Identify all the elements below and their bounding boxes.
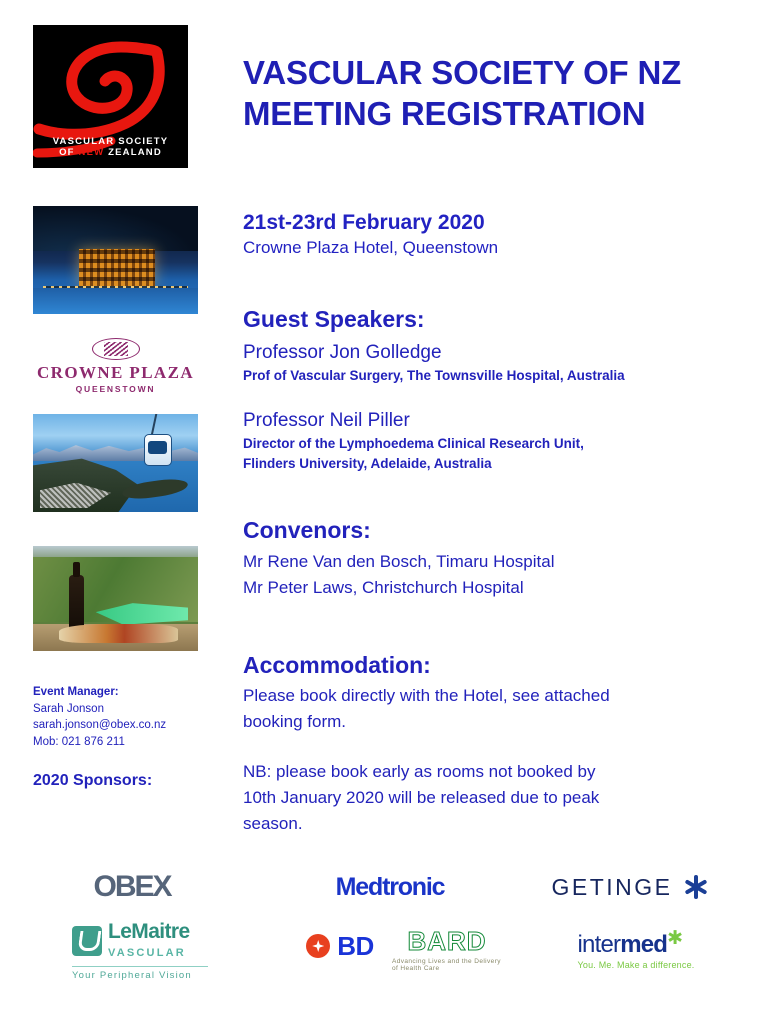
event-manager-heading: Event Manager:: [33, 684, 211, 701]
intermed-star-icon: ✱: [667, 928, 682, 949]
speaker-1-role: Prof of Vascular Surgery, The Townsville…: [243, 366, 625, 386]
lemaitre-name: LeMaitre: [108, 920, 190, 943]
sponsor-logo-bd: BD: [306, 931, 374, 962]
bd-name: BD: [337, 931, 374, 962]
intermed-tagline: You. Me. Make a difference.: [578, 960, 695, 970]
poster-page: VASCULAR SOCIETY OF NEW ZEALAND CROWNE P…: [0, 0, 770, 1024]
bd-starburst-icon: [306, 934, 330, 958]
intermed-name-bold: med: [620, 931, 667, 958]
crowne-plaza-crown-icon: [92, 338, 140, 360]
sponsor-logo-medtronic: Medtronic: [336, 873, 445, 902]
page-title-line2: MEETING REGISTRATION: [243, 95, 645, 132]
convenor-1: Mr Rene Van den Bosch, Timaru Hospital: [243, 549, 555, 575]
accommodation-para1-line2: booking form.: [243, 709, 610, 735]
accommodation-para2-line1: NB: please book early as rooms not booke…: [243, 759, 610, 785]
lemaitre-tagline: Your Peripheral Vision: [72, 966, 208, 981]
intermed-name-light: inter: [578, 931, 621, 958]
sponsor-logo-getinge: GETINGE: [551, 874, 672, 901]
photo-wine-valley: [33, 546, 198, 651]
speaker-2-role-line2: Flinders University, Adelaide, Australia: [243, 454, 625, 474]
society-logo-zealand: ZEALAND: [108, 147, 162, 158]
lemaitre-mark-icon: [72, 926, 102, 956]
event-venue: Crowne Plaza Hotel, Queenstown: [243, 236, 498, 260]
crowne-plaza-location: QUEENSTOWN: [33, 384, 198, 394]
society-logo-line1: VASCULAR SOCIETY: [53, 136, 169, 147]
left-column: VASCULAR SOCIETY OF NEW ZEALAND CROWNE P…: [33, 25, 211, 790]
getinge-asterisk-icon: [683, 874, 709, 900]
sponsor-logo-intermed: intermed✱ You. Me. Make a difference.: [578, 927, 695, 970]
society-logo-text: VASCULAR SOCIETY OF NEW ZEALAND: [33, 137, 188, 158]
speaker-2-role-line1: Director of the Lymphoedema Clinical Res…: [243, 434, 625, 454]
accommodation-block: Accommodation: Please book directly with…: [243, 650, 610, 837]
sponsor-row-2: LeMaitre VASCULAR Your Peripheral Vision…: [0, 916, 770, 986]
guest-speakers-heading: Guest Speakers:: [243, 304, 625, 334]
event-manager-email[interactable]: sarah.jonson@obex.co.nz: [33, 717, 211, 734]
page-title-line1: VASCULAR SOCIETY OF NZ: [243, 54, 681, 91]
photo-gondola: [33, 414, 198, 512]
sponsor-logo-lemaitre: LeMaitre VASCULAR Your Peripheral Vision: [72, 922, 208, 981]
event-manager-block: Event Manager: Sarah Jonson sarah.jonson…: [33, 684, 211, 750]
right-column: VASCULAR SOCIETY OF NZ MEETING REGISTRAT…: [243, 52, 748, 134]
event-manager-mobile: Mob: 021 876 211: [33, 734, 211, 751]
crowne-plaza-logo: CROWNE PLAZA QUEENSTOWN: [33, 338, 198, 394]
bard-sub: Advancing Lives and the Delivery of Heal…: [392, 958, 502, 972]
accommodation-para2-line2: 10th January 2020 will be released due t…: [243, 785, 610, 811]
convenors-block: Convenors: Mr Rene Van den Bosch, Timaru…: [243, 515, 555, 601]
speaker-2-name: Professor Neil Piller: [243, 408, 625, 434]
guest-speakers-block: Guest Speakers: Professor Jon Golledge P…: [243, 304, 625, 474]
lemaitre-sub: VASCULAR: [108, 947, 186, 959]
sponsor-logo-obex: OBEX: [93, 870, 170, 904]
photo-hotel-night: [33, 206, 198, 314]
page-title: VASCULAR SOCIETY OF NZ MEETING REGISTRAT…: [243, 52, 748, 134]
speaker-1-name: Professor Jon Golledge: [243, 340, 625, 366]
society-logo-of: OF: [59, 147, 75, 158]
event-manager-name: Sarah Jonson: [33, 701, 211, 718]
crowne-plaza-name: CROWNE PLAZA: [33, 364, 198, 381]
event-dates: 21st-23rd February 2020: [243, 209, 498, 236]
sponsor-row-1: OBEX Medtronic GETINGE: [0, 858, 770, 916]
accommodation-heading: Accommodation:: [243, 650, 610, 680]
bard-name: BARD: [407, 926, 486, 957]
event-details-block: 21st-23rd February 2020 Crowne Plaza Hot…: [243, 209, 498, 260]
accommodation-para2-line3: season.: [243, 811, 610, 837]
accommodation-para1-line1: Please book directly with the Hotel, see…: [243, 683, 610, 709]
society-logo-new: NEW: [79, 147, 105, 158]
sponsor-logo-bard: BARD Advancing Lives and the Delivery of…: [392, 926, 502, 972]
sponsors-heading: 2020 Sponsors:: [33, 772, 211, 790]
vascular-society-logo: VASCULAR SOCIETY OF NEW ZEALAND: [33, 25, 188, 168]
convenors-heading: Convenors:: [243, 515, 555, 545]
convenor-2: Mr Peter Laws, Christchurch Hospital: [243, 575, 555, 601]
